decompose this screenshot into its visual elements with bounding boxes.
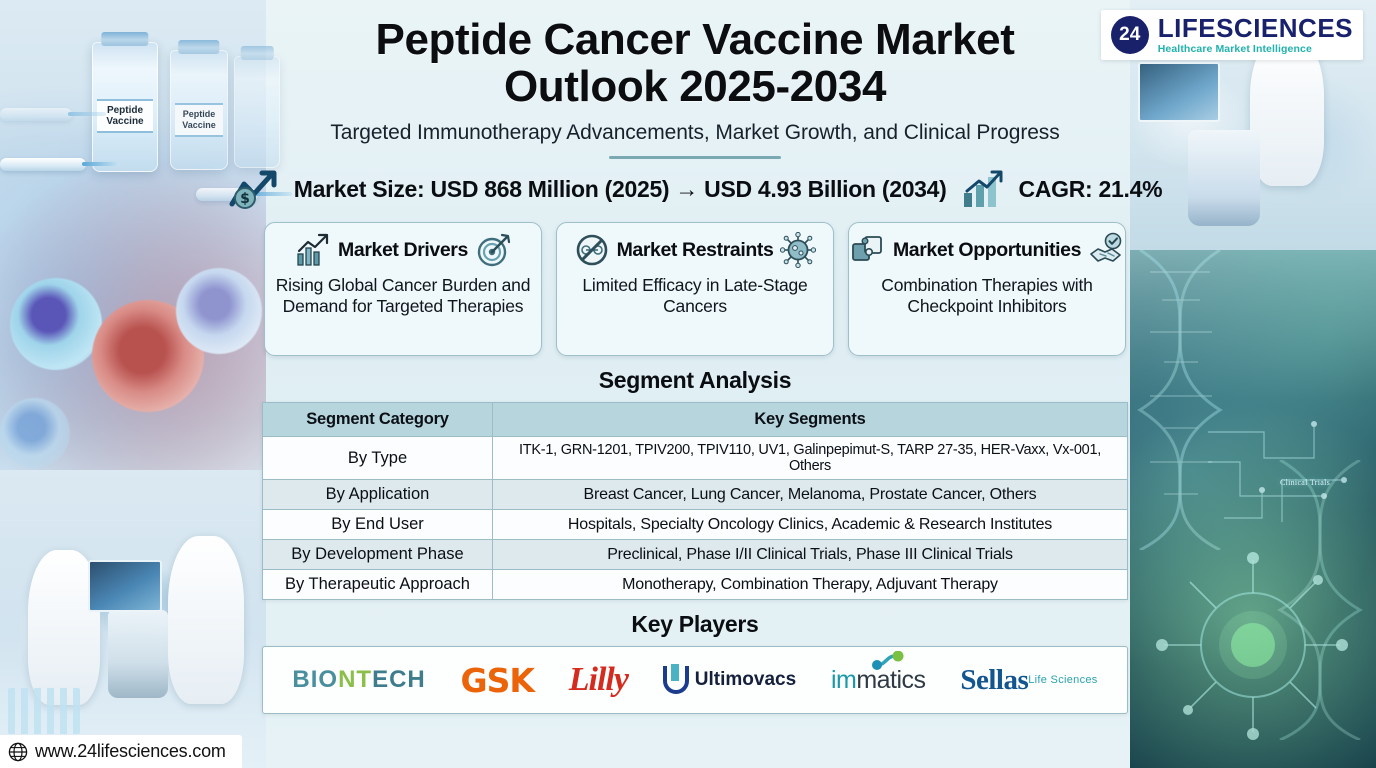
molecular-cell-graphic [1148, 540, 1358, 750]
cell-key-segments: Hospitals, Specialty Oncology Clinics, A… [493, 510, 1128, 540]
logo-immatics-part1: im [831, 666, 856, 694]
vial-cap [101, 32, 148, 46]
logo-ultimovacs: Ultimovacs [663, 666, 796, 694]
page-subtitle: Targeted Immunotherapy Advancements, Mar… [252, 121, 1138, 145]
cell-key-segments: Monotherapy, Combination Therapy, Adjuva… [493, 570, 1128, 600]
no-entry-prohibited-icon [574, 232, 610, 268]
cell-key-segments: Preclinical, Phase I/II Clinical Trials,… [493, 540, 1128, 570]
card-title: Market Drivers [338, 239, 468, 262]
card-market-drivers[interactable]: Market Drivers Rising Global Cancer Burd… [264, 222, 542, 356]
card-body: Combination Therapies with Checkpoint In… [859, 275, 1115, 317]
lab-monitor [88, 560, 162, 612]
cell-segment-category: By Type [263, 437, 493, 480]
scientist-figure [168, 536, 244, 704]
market-size-text: Market Size: USD 868 Million (2025) → US… [294, 176, 947, 203]
card-header: Market Restraints [567, 232, 823, 268]
immune-cell-graphic [176, 268, 262, 354]
vial-label: Peptide Vaccine [97, 99, 153, 133]
handshake-check-icon [1088, 232, 1124, 268]
header-block: Peptide Cancer Vaccine Market Outlook 20… [252, 0, 1138, 159]
card-title: Market Opportunities [893, 239, 1081, 262]
brand-logo: 24 LIFESCIENCES Healthcare Market Intell… [1101, 10, 1363, 60]
laboratory-scene-photo [0, 470, 266, 768]
logo-ultimovacs-text: Ultimovacs [695, 669, 796, 691]
growth-bar-chart-icon [295, 232, 331, 268]
title-divider [609, 156, 781, 159]
card-body: Rising Global Cancer Burden and Demand f… [275, 275, 531, 317]
card-header: Market Opportunities [859, 232, 1115, 268]
growth-arrow-dollar-icon: $ [228, 168, 280, 210]
cell-key-segments: Breast Cancer, Lung Cancer, Melanoma, Pr… [493, 480, 1128, 510]
cell-segment-category: By Therapeutic Approach [263, 570, 493, 600]
table-row: By Application Breast Cancer, Lung Cance… [263, 480, 1128, 510]
brand-tagline: Healthcare Market Intelligence [1158, 43, 1353, 55]
logo-biontech: BIONTECH [292, 666, 425, 694]
vial-cap [178, 40, 219, 54]
virus-cell-icon [780, 232, 816, 268]
circuit-lines-graphic [1204, 418, 1354, 528]
card-market-opportunities[interactable]: Market Opportunities Combination Therapi… [848, 222, 1126, 356]
table-row: By Type ITK-1, GRN-1201, TPIV200, TPIV11… [263, 437, 1128, 480]
puzzle-pieces-icon [850, 232, 886, 268]
clinical-trials-caption: Clinical Trials [1280, 478, 1330, 487]
logo-biontech-part2: NT [338, 666, 372, 694]
vial-label: Peptide Vaccine [175, 103, 223, 137]
immune-cell-graphic [10, 278, 102, 370]
website-url-chip[interactable]: www.24lifesciences.com [0, 735, 242, 768]
vaccine-vial: Peptide Vaccine [92, 42, 158, 172]
website-url-text: www.24lifesciences.com [35, 741, 226, 762]
test-tube-rack [8, 688, 80, 734]
globe-icon [8, 742, 28, 762]
logo-biontech-part1: BIO [292, 666, 338, 694]
segment-analysis-heading: Segment Analysis [252, 367, 1138, 394]
key-players-strip: BIONTECH GSK Lilly Ultimovacs immatics S… [262, 646, 1128, 714]
logo-sellas: Sellas Life Sciences [960, 666, 1097, 695]
key-players-heading: Key Players [252, 611, 1138, 638]
table-row: By Development Phase Preclinical, Phase … [263, 540, 1128, 570]
logo-immatics: immatics [831, 666, 926, 695]
cagr-text: CAGR: 21.4% [1019, 176, 1163, 203]
syringe-icon [0, 108, 72, 121]
cell-segment-category: By Application [263, 480, 493, 510]
cell-segment-category: By Development Phase [263, 540, 493, 570]
logo-gsk: GSK [461, 661, 534, 700]
card-header: Market Drivers [275, 232, 531, 268]
segment-analysis-table: Segment Category Key Segments By Type IT… [262, 402, 1128, 600]
card-market-restraints[interactable]: Market Restraints [556, 222, 834, 356]
table-header-row: Segment Category Key Segments [263, 403, 1128, 437]
target-dartboard-icon [475, 232, 511, 268]
page-title-line2: Outlook 2025-2034 [252, 63, 1138, 110]
market-metrics-band: $ Market Size: USD 868 Million (2025) → … [252, 168, 1138, 210]
svg-text:$: $ [240, 191, 250, 207]
background-left-vaccine-lab: Peptide Vaccine Peptide Vaccine [0, 0, 266, 768]
microscope-graphic [1188, 130, 1260, 226]
immune-cell-graphic [0, 398, 70, 468]
syringe-icon [0, 158, 86, 171]
microscope-graphic [108, 610, 168, 698]
brand-badge: 24 [1111, 16, 1149, 54]
lab-monitor [1138, 62, 1220, 122]
table-row: By Therapeutic Approach Monotherapy, Com… [263, 570, 1128, 600]
vaccine-vial: Peptide Vaccine [170, 50, 228, 170]
logo-sellas-main: Sellas [960, 666, 1028, 695]
column-header-key-segments: Key Segments [493, 403, 1128, 437]
logo-sellas-sub: Life Sciences [1028, 675, 1097, 686]
table-row: By End User Hospitals, Specialty Oncolog… [263, 510, 1128, 540]
market-factor-cards: Market Drivers Rising Global Cancer Burd… [252, 222, 1138, 356]
card-body: Limited Efficacy in Late-Stage Cancers [567, 275, 823, 317]
column-header-segment-category: Segment Category [263, 403, 493, 437]
cell-key-segments: ITK-1, GRN-1201, TPIV200, TPIV110, UV1, … [493, 437, 1128, 480]
infographic-canvas: Peptide Vaccine Peptide Vaccine [0, 0, 1376, 768]
card-title: Market Restraints [617, 239, 774, 262]
ultimovacs-mark-icon [663, 666, 689, 694]
logo-biontech-part3: ECH [372, 666, 426, 694]
brand-name: LIFESCIENCES [1158, 15, 1353, 41]
main-content: Peptide Cancer Vaccine Market Outlook 20… [252, 0, 1138, 768]
cell-segment-category: By End User [263, 510, 493, 540]
page-title-line1: Peptide Cancer Vaccine Market [252, 16, 1138, 63]
background-right-dna-molecular: Clinical Trials [1130, 0, 1376, 768]
logo-lilly: Lilly [569, 661, 628, 699]
immatics-mark-icon [871, 651, 913, 671]
bar-chart-arrow-icon [961, 169, 1005, 209]
